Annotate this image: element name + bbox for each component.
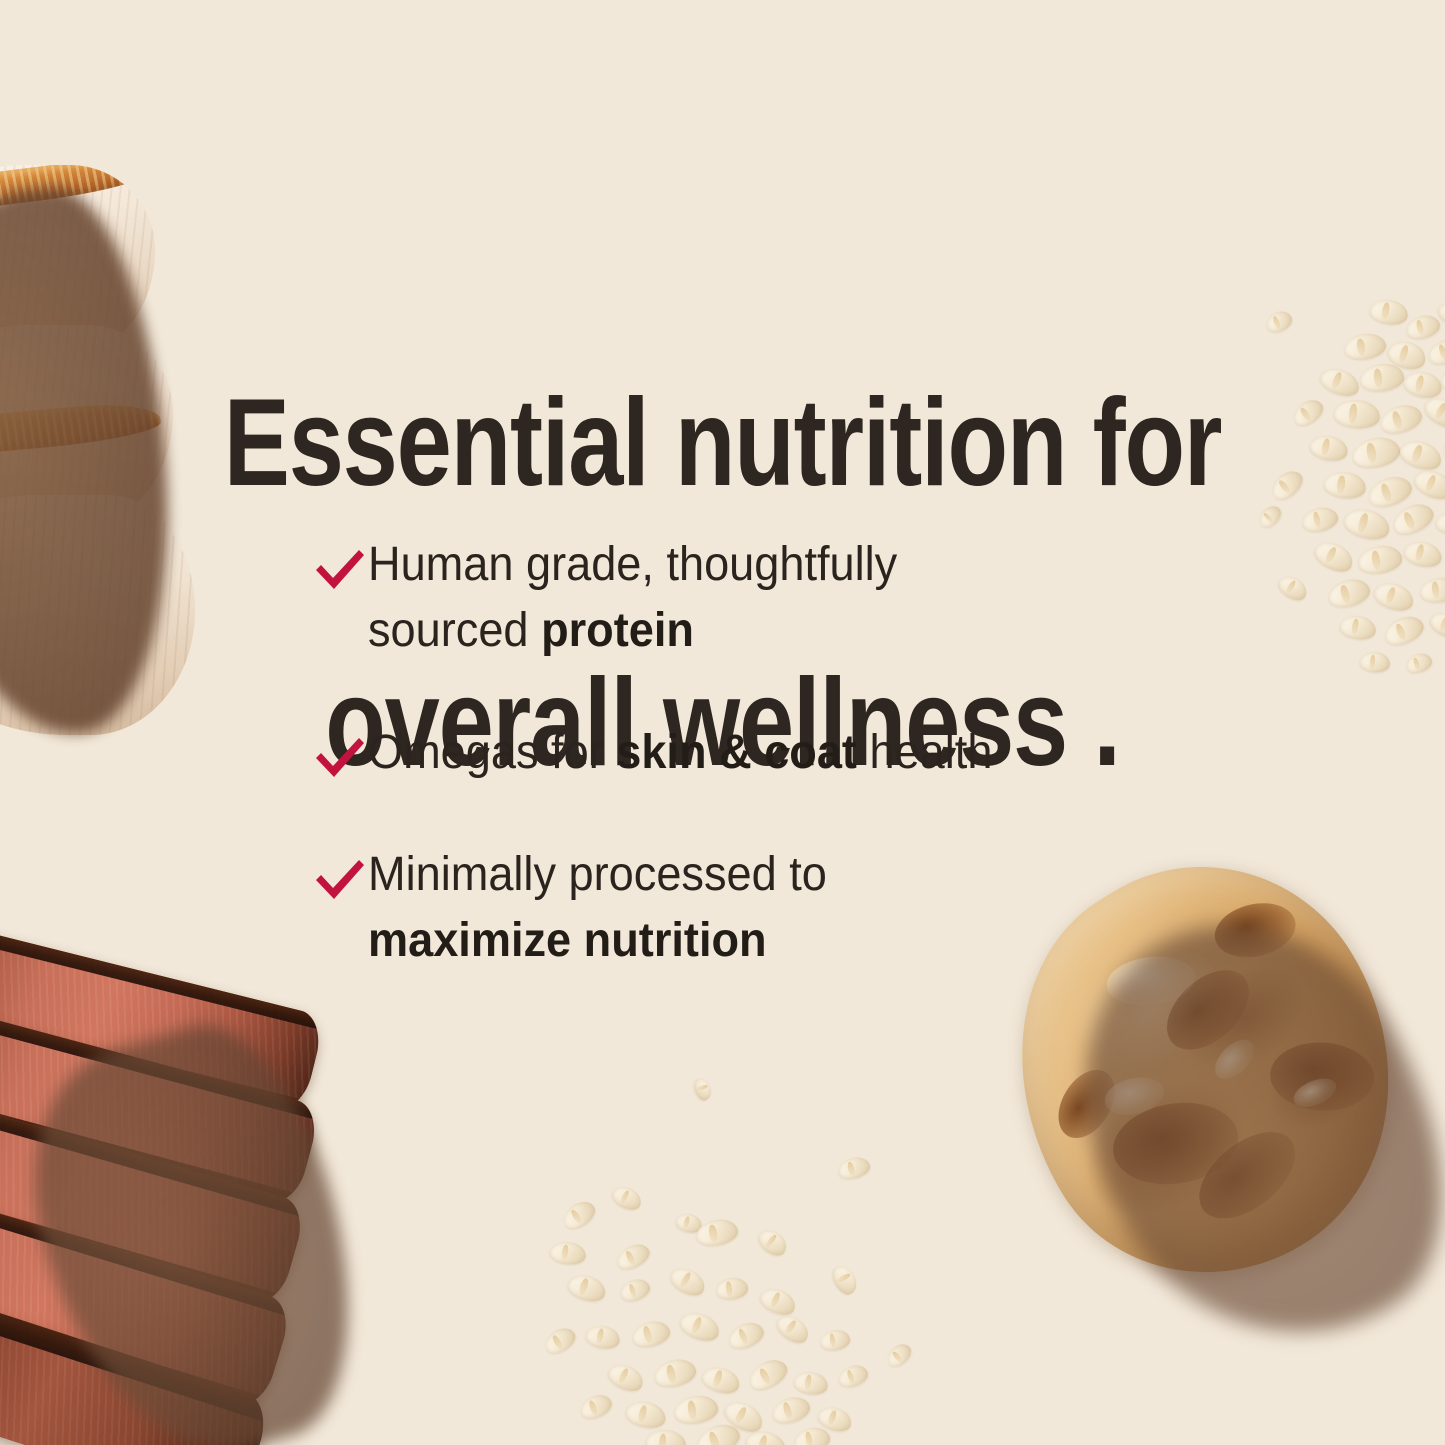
list-item: Human grade, thoughtfully sourced protei… (312, 530, 1212, 664)
list-item-label: Human grade, thoughtfully sourced protei… (368, 530, 1161, 664)
promo-poster: Essential nutrition for overall wellness… (0, 0, 1445, 1445)
benefits-list: Human grade, thoughtfully sourced protei… (312, 530, 1212, 974)
list-item: Omegas for skin & coat health (312, 718, 1212, 786)
checkmark-icon (312, 854, 368, 906)
checkmark-icon (312, 544, 368, 596)
checkmark-icon (312, 732, 368, 784)
page-title-line-1: Essential nutrition for (145, 373, 1301, 513)
list-item-label: Minimally processed to maximize nutritio… (368, 840, 1161, 974)
list-item: Minimally processed to maximize nutritio… (312, 840, 1212, 974)
list-item-label: Omegas for skin & coat health (368, 718, 1161, 786)
rolled-oats-photo (520, 1078, 930, 1445)
sliced-beef-steak-photo (0, 975, 400, 1445)
